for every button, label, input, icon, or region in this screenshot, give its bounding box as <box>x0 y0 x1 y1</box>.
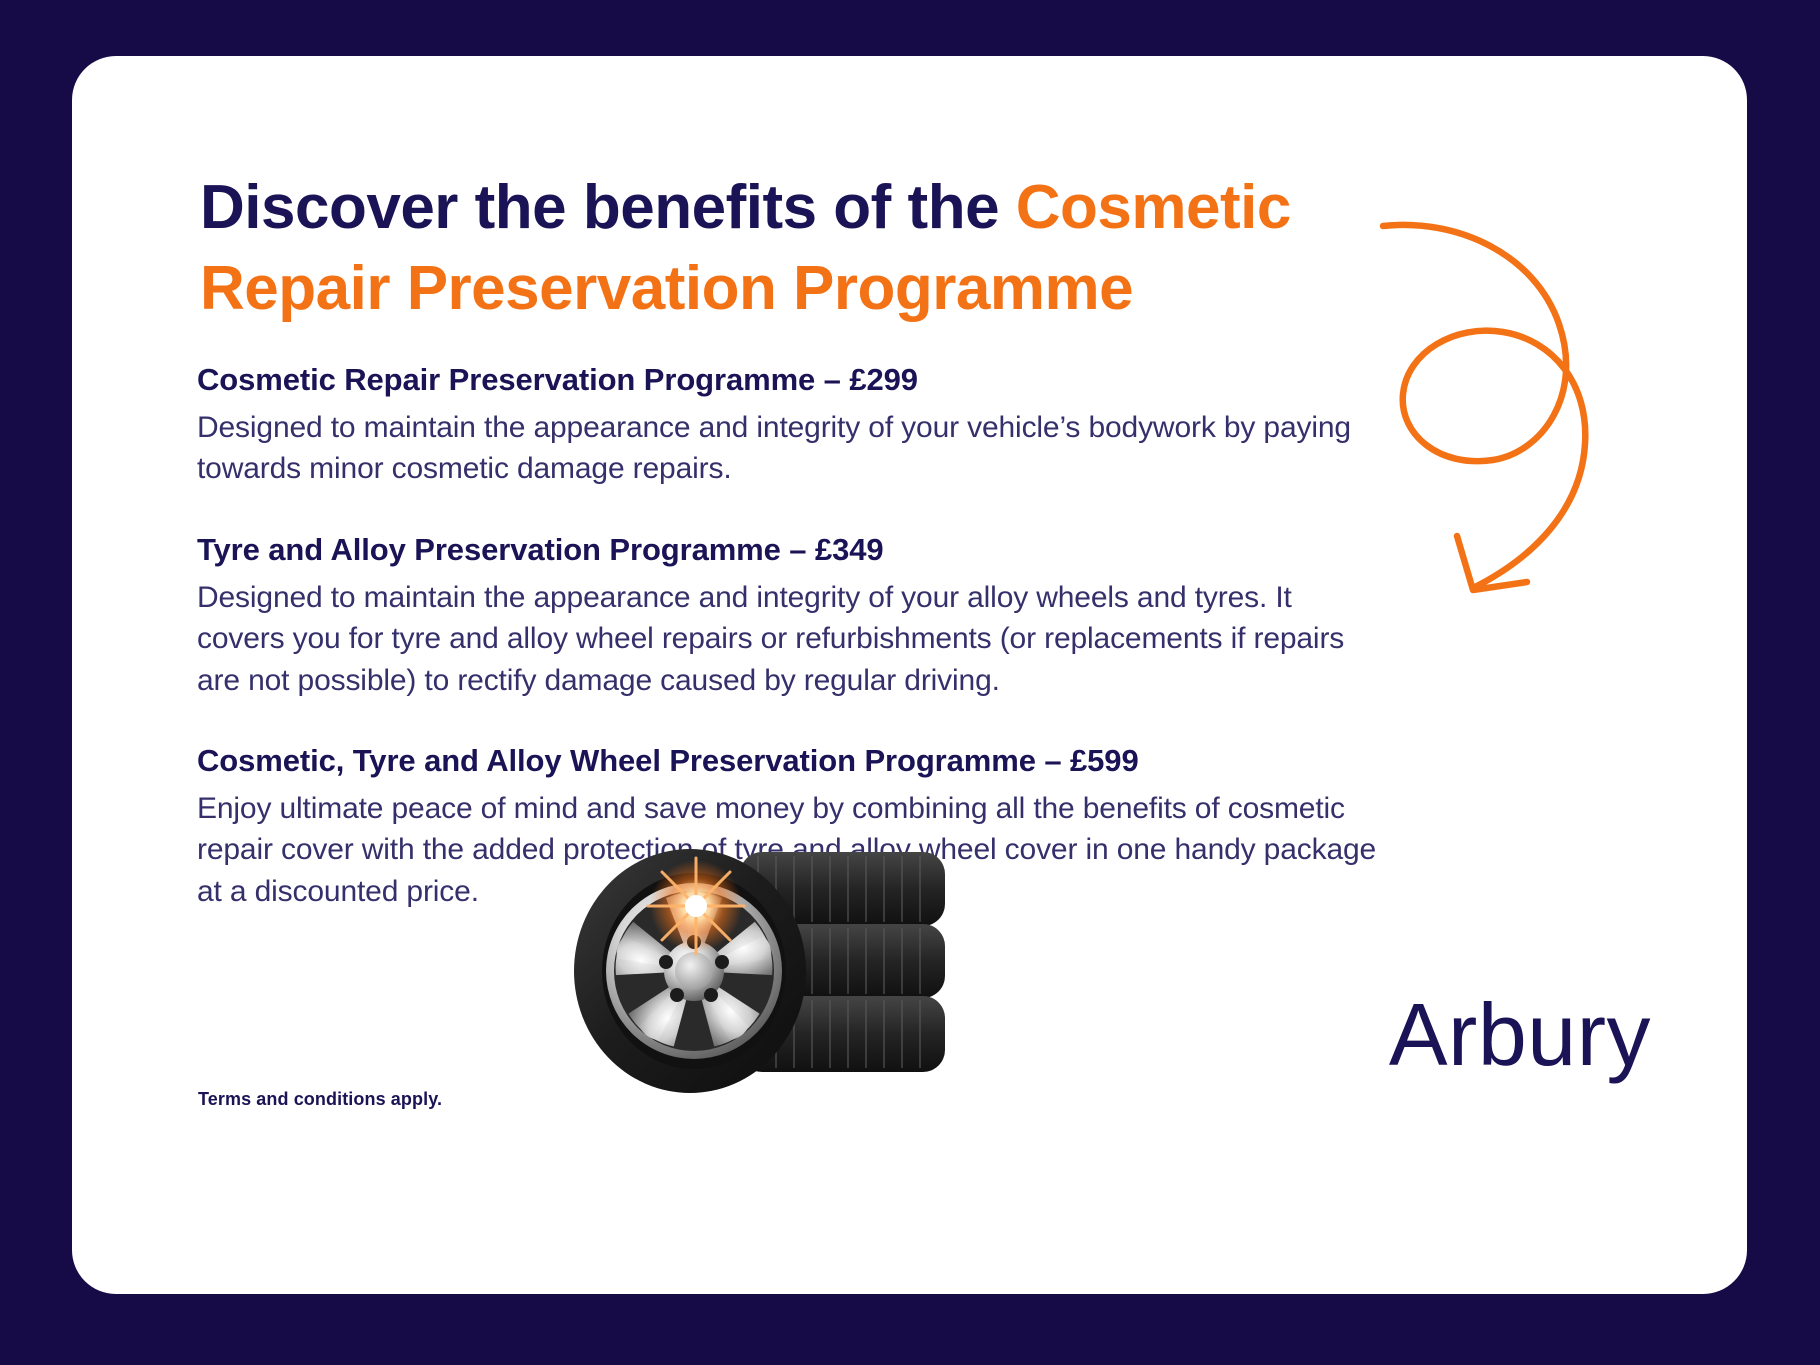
headline-plain: Discover the benefits of the <box>200 173 1016 242</box>
section-tyre-and-alloy: Tyre and Alloy Preservation Programme – … <box>197 532 1382 701</box>
section-title: Cosmetic, Tyre and Alloy Wheel Preservat… <box>197 743 1382 779</box>
section-title: Tyre and Alloy Preservation Programme – … <box>197 532 1382 568</box>
headline-accent-cosmetic: Cosmetic <box>1016 173 1291 242</box>
page-title: Discover the benefits of the Cosmetic Re… <box>200 168 1380 329</box>
headline-accent-line2: Repair Preservation Programme <box>200 254 1133 323</box>
terms-and-conditions: Terms and conditions apply. <box>198 1089 442 1110</box>
content-card: Discover the benefits of the Cosmetic Re… <box>72 56 1747 1294</box>
poster: Discover the benefits of the Cosmetic Re… <box>0 0 1820 1365</box>
section-body: Designed to maintain the appearance and … <box>197 407 1382 490</box>
section-title: Cosmetic Repair Preservation Programme –… <box>197 362 1382 398</box>
section-cosmetic-repair: Cosmetic Repair Preservation Programme –… <box>197 362 1382 490</box>
sparkle-icon <box>648 858 744 954</box>
programme-sections: Cosmetic Repair Preservation Programme –… <box>197 362 1382 912</box>
section-body: Designed to maintain the appearance and … <box>197 577 1382 701</box>
arbury-logo: Arbury <box>1389 991 1651 1079</box>
tyre-stack-image <box>562 838 962 1098</box>
